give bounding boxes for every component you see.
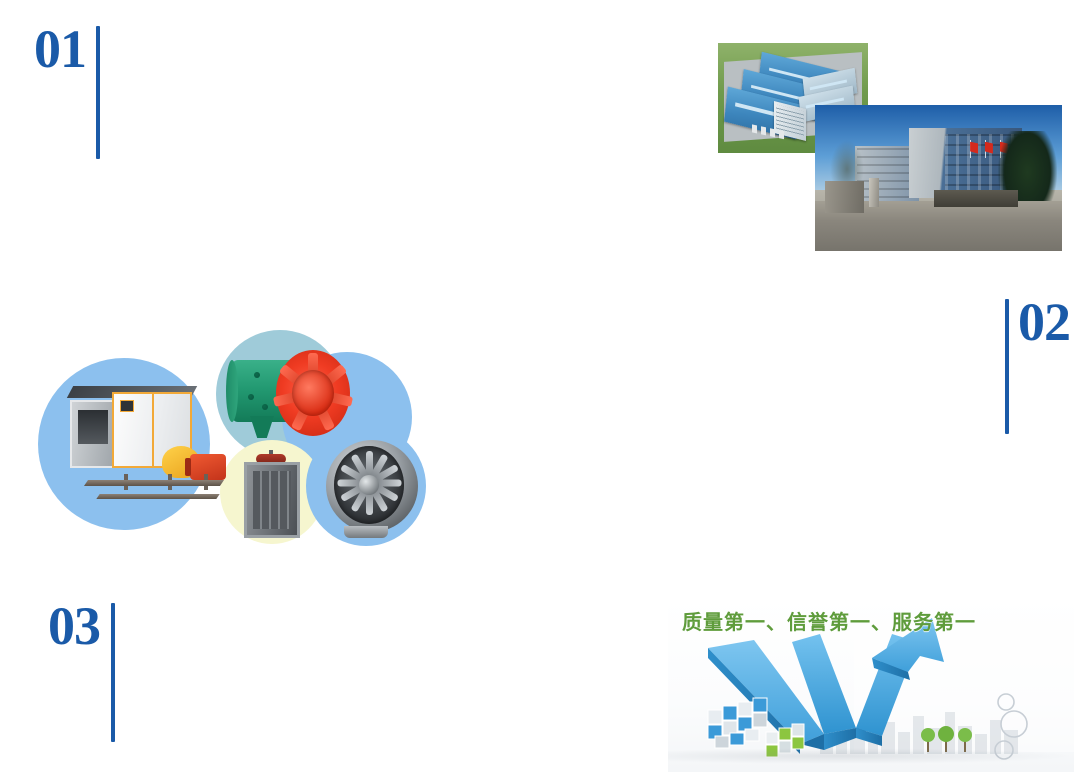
axial-fan-bolt-3 (254, 372, 260, 378)
office-building-photo (815, 105, 1062, 251)
section-number-03: 03 (48, 601, 100, 651)
box-fan-base-rail-2 (96, 494, 219, 499)
section-rule-01 (96, 26, 100, 159)
blue-cube-stack-icon (706, 690, 770, 750)
red-flag-1 (970, 142, 978, 154)
axial-fan-bolt-1 (248, 394, 254, 400)
damper-blades (253, 471, 291, 529)
fire-damper-air-valve (240, 454, 304, 538)
axial-mixed-flow-fan (232, 346, 352, 450)
section-number-01: 01 (34, 24, 86, 74)
box-fan-base-rail-1 (84, 480, 224, 486)
spiral-case-mixed-flow-rotor (326, 440, 418, 532)
section-rule-03 (111, 603, 115, 742)
axial-blade-3 (312, 388, 353, 407)
box-fan-inlet-side (70, 400, 116, 468)
photo-gatehouse (825, 181, 865, 213)
axial-blade-5 (291, 391, 318, 431)
rotor-support-bracket (344, 526, 388, 538)
rotor-nose-cone (359, 475, 379, 495)
axial-blade-1 (308, 353, 318, 393)
section-marker-03: 03 (48, 601, 115, 742)
rotor-inlet-cone (334, 446, 404, 524)
fan-product-collage (34, 328, 424, 550)
box-type-centrifugal-fan-unit (64, 384, 220, 514)
axial-fan-hub (302, 382, 324, 404)
axial-blade-4 (309, 391, 336, 431)
growth-arrow-banner: 质量第一、信誉第一、服务第一 (668, 598, 1074, 772)
damper-frame (244, 462, 300, 538)
red-flag-2 (985, 142, 993, 154)
banner-slogan: 质量第一、信誉第一、服务第一 (682, 606, 976, 635)
axial-fan-bolt-2 (262, 404, 268, 410)
axial-blade-6 (273, 388, 314, 407)
axial-fan-mount-foot (250, 416, 274, 438)
section-marker-02: 02 (1005, 297, 1070, 434)
banner-ground-shadow (668, 748, 1074, 764)
section-rule-02 (1005, 299, 1009, 434)
section-number-02: 02 (1018, 297, 1070, 347)
box-fan-control-panel (120, 400, 134, 412)
photo-low-wall (934, 190, 1018, 208)
axial-fan-impeller (276, 350, 350, 436)
section-marker-01: 01 (34, 24, 100, 159)
box-fan-motor (190, 454, 226, 480)
photo-gate-post (869, 178, 879, 207)
